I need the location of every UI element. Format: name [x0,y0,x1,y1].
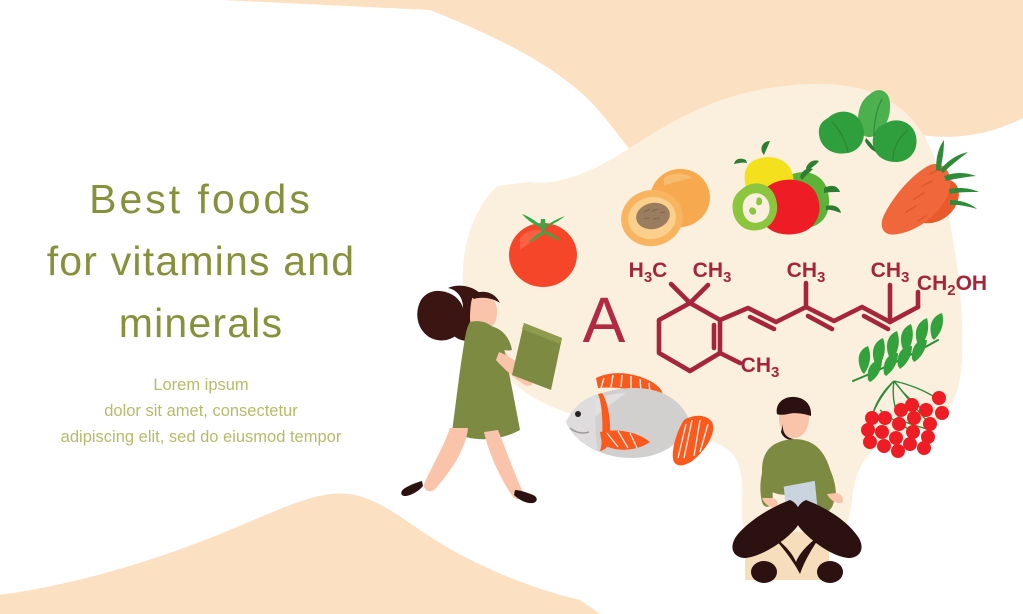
label-h3c: H3C [629,259,668,286]
headline-block: Best foods for vitamins and minerals Lor… [0,168,402,450]
spinach-leaves-icon [819,90,917,162]
rowan-berry-cluster [861,391,949,458]
rowan-berries-icon [853,313,949,458]
sitting-man-character [732,397,861,583]
label-ch3-b: CH3 [787,259,826,286]
apricot-icon [616,161,718,252]
subtext-line-1: Lorem ipsum [0,372,402,398]
rowan-leaflets [859,313,943,382]
subtext-line-2: dolor sit amet, consectetur [0,398,402,424]
illustration-canvas: A H3C [0,0,1023,614]
label-ch3-ring: CH3 [741,354,780,381]
tomato-icon [509,214,577,287]
label-ch3-a: CH3 [693,259,732,286]
subtext-line-3: adipiscing elit, sed do eiusmod tempor [0,424,402,450]
bell-peppers-icon [732,141,841,234]
subtext-block: Lorem ipsum dolor sit amet, consectetur … [0,372,402,450]
walking-woman-character [401,286,562,503]
headline-line-1: Best foods [0,168,402,230]
headline-line-3: minerals [0,292,402,354]
fish-icon [566,373,713,465]
vitamin-letter: A [583,284,626,356]
label-ch3-c: CH3 [871,259,910,286]
headline-line-2: for vitamins and [0,230,402,292]
label-ch2oh: CH2OH [917,272,987,299]
